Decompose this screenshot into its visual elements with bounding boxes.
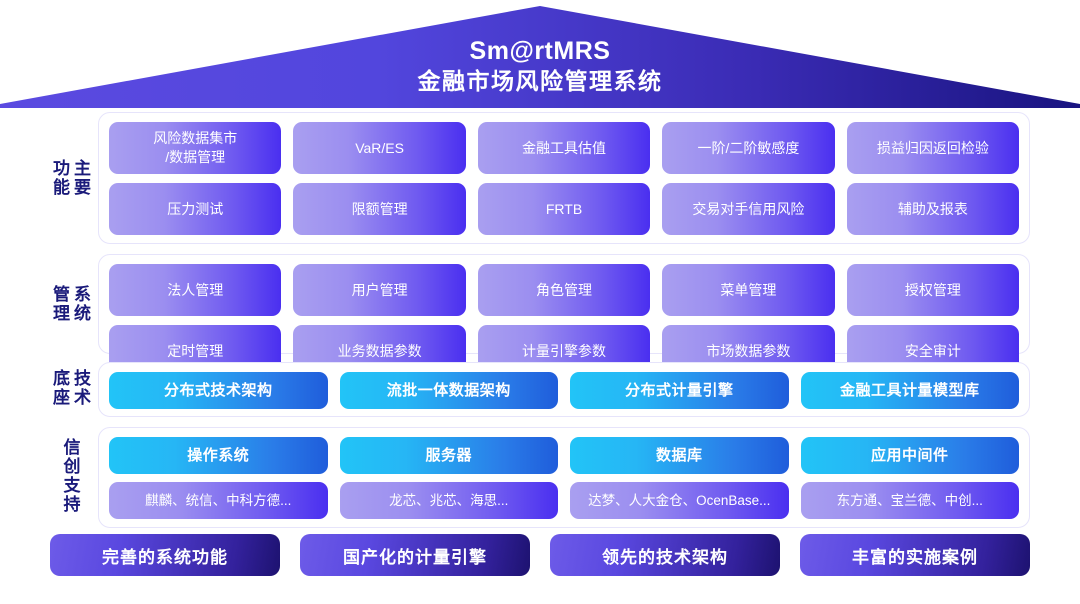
section-row: 压力测试 限额管理 FRTB 交易对手信用风险 辅助及报表	[109, 183, 1019, 235]
feature-tile[interactable]: 授权管理	[847, 264, 1019, 316]
xinchuang-vendor-tile[interactable]: 龙芯、兆芯、海思...	[340, 482, 559, 519]
feature-tile[interactable]: VaR/ES	[293, 122, 465, 174]
feature-tile[interactable]: 交易对手信用风险	[662, 183, 834, 235]
xinchuang-category-tile[interactable]: 应用中间件	[801, 437, 1020, 474]
infographic-page: Sm@rtMRS 金融市场风险管理系统 主要功能 系统管理 技术底座 信创支持 …	[0, 0, 1080, 604]
tech-tile[interactable]: 流批一体数据架构	[340, 372, 559, 409]
roof-shape-icon	[0, 0, 1080, 110]
section-system-management: 法人管理 用户管理 角色管理 菜单管理 授权管理 定时管理 业务数据参数 计量引…	[98, 254, 1030, 354]
tech-tile[interactable]: 分布式技术架构	[109, 372, 328, 409]
section-row: 风险数据集市 /数据管理 VaR/ES 金融工具估值 一阶/二阶敏感度 损益归因…	[109, 122, 1019, 174]
feature-tile[interactable]: 限额管理	[293, 183, 465, 235]
highlight-button[interactable]: 完善的系统功能	[50, 534, 280, 576]
section-row: 分布式技术架构 流批一体数据架构 分布式计量引擎 金融工具计量模型库	[109, 372, 1019, 409]
xinchuang-category-tile[interactable]: 操作系统	[109, 437, 328, 474]
xinchuang-vendor-tile[interactable]: 麒麟、统信、中科方德...	[109, 482, 328, 519]
feature-tile[interactable]: 角色管理	[478, 264, 650, 316]
feature-tile[interactable]: 法人管理	[109, 264, 281, 316]
feature-tile[interactable]: 菜单管理	[662, 264, 834, 316]
highlight-button[interactable]: 国产化的计量引擎	[300, 534, 530, 576]
feature-tile[interactable]: 辅助及报表	[847, 183, 1019, 235]
section-main-functions: 风险数据集市 /数据管理 VaR/ES 金融工具估值 一阶/二阶敏感度 损益归因…	[98, 112, 1030, 244]
roof-banner: Sm@rtMRS 金融市场风险管理系统	[0, 0, 1080, 110]
tech-tile[interactable]: 金融工具计量模型库	[801, 372, 1020, 409]
section-row: 麒麟、统信、中科方德... 龙芯、兆芯、海思... 达梦、人大金仓、OcenBa…	[109, 482, 1019, 519]
bottom-highlight-bar: 完善的系统功能 国产化的计量引擎 领先的技术架构 丰富的实施案例	[50, 534, 1030, 576]
feature-tile[interactable]: 一阶/二阶敏感度	[662, 122, 834, 174]
feature-tile[interactable]: 损益归因返回检验	[847, 122, 1019, 174]
section-label-tech-foundation-text: 技术底座	[49, 366, 91, 410]
feature-tile[interactable]: 压力测试	[109, 183, 281, 235]
section-row: 操作系统 服务器 数据库 应用中间件	[109, 437, 1019, 474]
feature-tile[interactable]: 金融工具估值	[478, 122, 650, 174]
section-label-system-management-text: 系统管理	[49, 282, 91, 326]
feature-tile[interactable]: FRTB	[478, 183, 650, 235]
feature-tile[interactable]: 用户管理	[293, 264, 465, 316]
section-label-tech-foundation: 技术底座	[46, 358, 94, 418]
section-xinchuang-support: 操作系统 服务器 数据库 应用中间件 麒麟、统信、中科方德... 龙芯、兆芯、海…	[98, 427, 1030, 528]
section-label-xinchuang-support-text: 信创支持	[60, 438, 81, 514]
tech-tile[interactable]: 分布式计量引擎	[570, 372, 789, 409]
section-tech-foundation: 分布式技术架构 流批一体数据架构 分布式计量引擎 金融工具计量模型库	[98, 362, 1030, 417]
xinchuang-vendor-tile[interactable]: 东方通、宝兰德、中创...	[801, 482, 1020, 519]
xinchuang-category-tile[interactable]: 数据库	[570, 437, 789, 474]
highlight-button[interactable]: 领先的技术架构	[550, 534, 780, 576]
highlight-button[interactable]: 丰富的实施案例	[800, 534, 1030, 576]
feature-tile[interactable]: 风险数据集市 /数据管理	[109, 122, 281, 174]
section-row: 法人管理 用户管理 角色管理 菜单管理 授权管理	[109, 264, 1019, 316]
section-label-main-functions: 主要功能	[46, 114, 94, 242]
xinchuang-vendor-tile[interactable]: 达梦、人大金仓、OcenBase...	[570, 482, 789, 519]
section-label-xinchuang-support: 信创支持	[46, 424, 94, 528]
xinchuang-category-tile[interactable]: 服务器	[340, 437, 559, 474]
section-label-system-management: 系统管理	[46, 256, 94, 352]
section-label-main-functions-text: 主要功能	[49, 156, 91, 200]
